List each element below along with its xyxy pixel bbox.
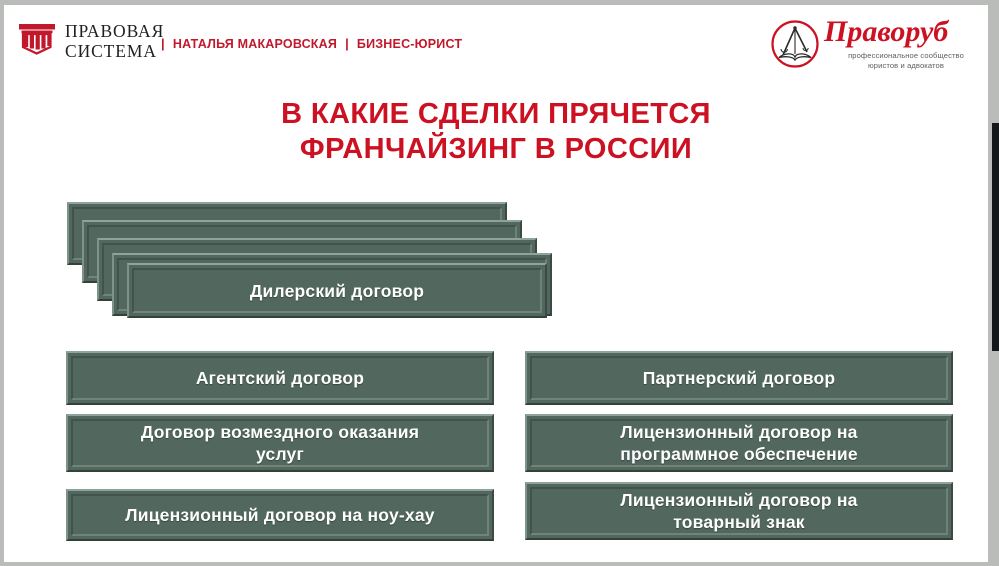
brand-divider-second: | [345,36,349,51]
plaque-label: Партнерский договор [633,367,845,389]
plaque-partnerskiy-dogovor[interactable]: Партнерский договор [525,351,953,405]
plaque-label: Лицензионный договор на ноу-хау [115,504,444,526]
column-pillar-icon [18,22,56,61]
brand-person-role: БИЗНЕС-ЮРИСТ [357,37,462,51]
plaque-label: Договор возмездного оказания услуг [131,421,429,465]
slide-canvas: ПРАВОВАЯСИСТЕМА | НАТАЛЬЯ МАКАРОВСКАЯ | … [4,5,988,562]
brand-name-line1: ПРАВОВАЯ [65,21,164,41]
brand-divider-first: | [161,36,165,51]
vertical-scrollbar-thumb[interactable] [992,123,999,351]
viewer-frame-bottom [0,562,999,566]
pravorub-wordmark: Праворуб [824,15,948,49]
slide-viewer: ПРАВОВАЯСИСТЕМА | НАТАЛЬЯ МАКАРОВСКАЯ | … [0,0,999,566]
brand-left-name: ПРАВОВАЯСИСТЕМА [65,21,164,61]
brand-tagline: | НАТАЛЬЯ МАКАРОВСКАЯ | БИЗНЕС-ЮРИСТ [161,36,462,51]
plaque-label: Лицензионный договор на программное обес… [610,421,868,465]
plaque-licenzionnyy-dogovor-na-tovarnyy-znak[interactable]: Лицензионный договор на товарный знак [525,482,953,540]
plaque-label: Агентский договор [186,367,374,389]
plaque-label: Лицензионный договор на товарный знак [610,489,867,533]
pravorub-subtitle-line2: юристов и адвокатов [868,61,944,70]
stacked-plaque-group: Дилерский договор [4,5,988,562]
slide-header: ПРАВОВАЯСИСТЕМА | НАТАЛЬЯ МАКАРОВСКАЯ | … [4,5,988,85]
brand-person-name: НАТАЛЬЯ МАКАРОВСКАЯ [173,37,337,51]
plaque-licenzionnyy-dogovor-na-po[interactable]: Лицензионный договор на программное обес… [525,414,953,472]
plaque-dogovor-vozmezdnogo-okazaniya-uslug[interactable]: Договор возмездного оказания услуг [66,414,494,472]
brand-left: ПРАВОВАЯСИСТЕМА [18,21,164,61]
pravorub-seal-icon [770,19,820,74]
brand-name-line2: СИСТЕМА [65,41,157,61]
plaque-agentskiy-dogovor[interactable]: Агентский договор [66,351,494,405]
pravorub-subtitle-line1: профессиональное сообщество [848,51,964,60]
stacked-plaque-front[interactable]: Дилерский договор [127,263,547,318]
plaque-licenzionnyy-dogovor-na-nou-hau[interactable]: Лицензионный договор на ноу-хау [66,489,494,541]
brand-right: Праворуб профессиональное сообществоюрис… [770,15,980,77]
vertical-scrollbar-track[interactable] [988,5,999,566]
slide-title: В КАКИЕ СДЕЛКИ ПРЯЧЕТСЯ ФРАНЧАЙЗИНГ В РО… [4,97,988,167]
stacked-plaque-label: Дилерский договор [240,280,434,302]
pravorub-subtitle: профессиональное сообществоюристов и адв… [826,51,986,70]
